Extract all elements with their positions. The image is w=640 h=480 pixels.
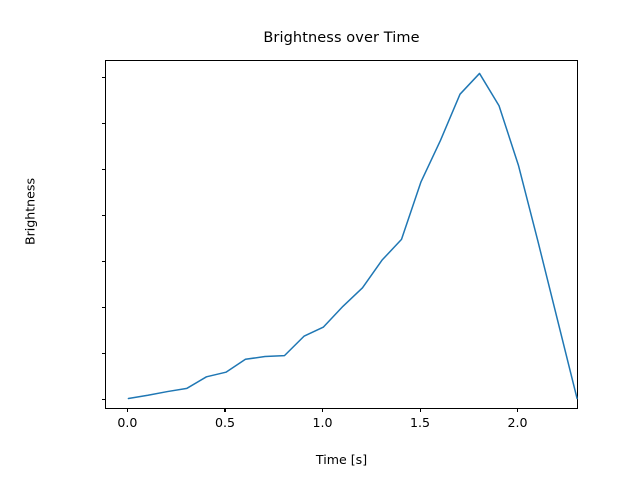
brightness-line-series bbox=[128, 73, 577, 398]
data-line-svg bbox=[106, 61, 579, 410]
y-tick-mark bbox=[102, 215, 106, 216]
x-tick-label: 0.0 bbox=[117, 415, 137, 430]
y-tick-mark bbox=[102, 261, 106, 262]
x-tick-mark bbox=[517, 408, 518, 412]
x-tick-mark bbox=[224, 408, 225, 412]
y-tick-mark bbox=[102, 123, 106, 124]
x-tick-label: 2.0 bbox=[508, 415, 528, 430]
y-axis-label: Brightness bbox=[23, 112, 38, 312]
y-tick-mark bbox=[102, 169, 106, 170]
x-tick-mark bbox=[322, 408, 323, 412]
y-tick-mark bbox=[102, 307, 106, 308]
y-tick-mark bbox=[102, 353, 106, 354]
y-axis-tick-labels: 0100200300400500600700 bbox=[0, 0, 96, 480]
chart-title: Brightness over Time bbox=[0, 30, 640, 46]
x-tick-mark bbox=[127, 408, 128, 412]
matplotlib-figure: Brightness over Time 0100200300400500600… bbox=[0, 0, 640, 480]
x-tick-label: 1.0 bbox=[312, 415, 332, 430]
y-tick-mark bbox=[102, 77, 106, 78]
chart-title-text: Brightness over Time bbox=[263, 30, 419, 46]
x-axis-label: Time [s] bbox=[105, 452, 578, 467]
x-tick-label: 1.5 bbox=[410, 415, 430, 430]
plot-area bbox=[105, 60, 578, 409]
x-tick-mark bbox=[420, 408, 421, 412]
y-tick-mark bbox=[102, 399, 106, 400]
x-tick-label: 0.5 bbox=[215, 415, 235, 430]
